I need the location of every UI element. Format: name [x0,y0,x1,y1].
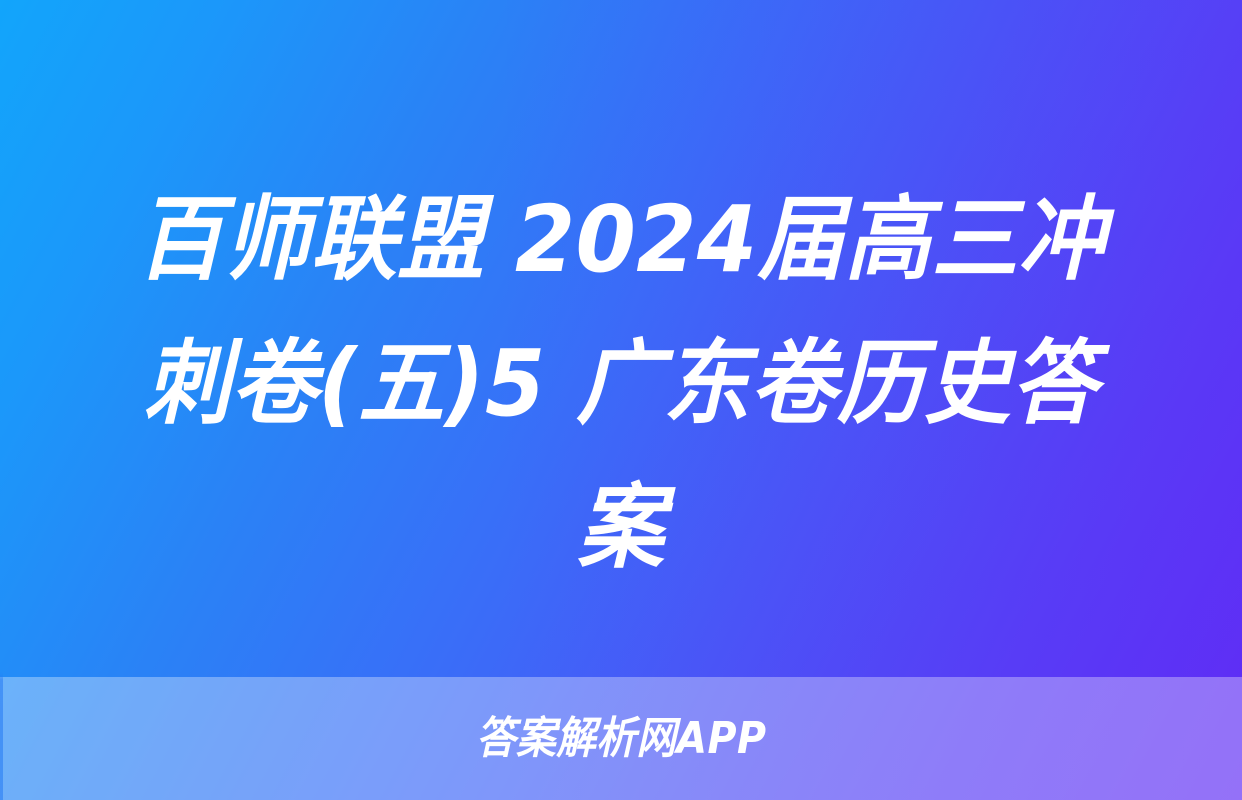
answer-poster-card: 百师联盟 2024届高三冲刺卷(五)5 广东卷历史答案 答案解析网APP [0,0,1242,800]
watermark-band: 答案解析网APP [0,677,1242,800]
page-title: 百师联盟 2024届高三冲刺卷(五)5 广东卷历史答案 [107,168,1135,600]
poster-title-block: 百师联盟 2024届高三冲刺卷(五)5 广东卷历史答案 [0,168,1242,600]
site-watermark: 答案解析网APP [476,717,766,761]
